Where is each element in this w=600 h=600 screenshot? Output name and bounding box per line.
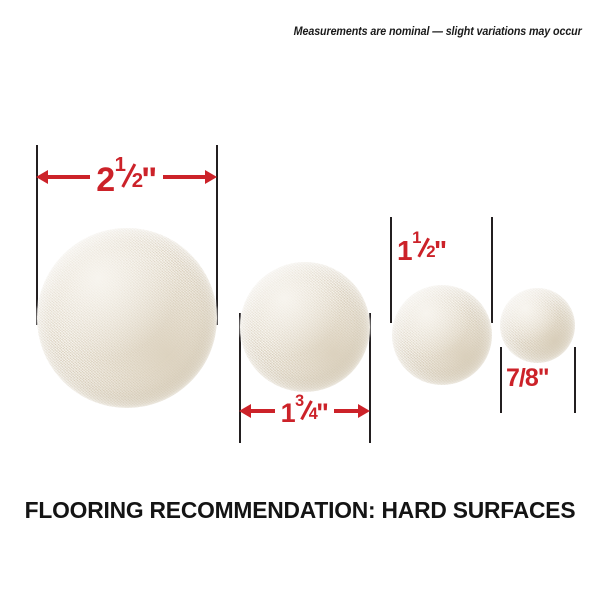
fraction-pad-1-3-4: 34 [295,395,316,422]
measurement-disclaimer: Measurements are nominal — slight variat… [294,26,582,38]
arrow-right-pad-1-3-4 [334,404,370,418]
arrow-left-pad-2-1-2 [36,170,90,184]
felt-pad-1-3-4-inch [240,262,370,392]
tick-line-pad-2-1-2-right [216,145,218,325]
fraction-numerator-pad-1-3-4: 3 [295,393,304,409]
fraction-denominator-pad-1-1-2: 2 [426,244,435,261]
fraction-bar-pad-1-3-4 [301,400,313,419]
fraction-denominator-pad-1-3-4: 4 [309,406,318,422]
dimension-label-pad-7-8: 7/8" [506,366,549,391]
flooring-recommendation-caption: FLOORING RECOMMENDATION: HARD SURFACES [9,497,591,524]
dim-numerator-pad-7-8: 7 [506,364,519,392]
dimension-label-pad-2-1-2: 212" [90,157,163,197]
arrow-left-pad-1-3-4 [239,404,275,418]
fraction-pad-1-1-2: 12 [412,232,434,260]
felt-pad-7-8-inch [500,288,575,363]
dim-whole-pad-2-1-2: 2 [96,161,114,199]
dim-whole-pad-1-1-2: 1 [397,235,412,266]
fraction-bar-pad-2-1-2 [122,163,137,187]
infographic-canvas: Measurements are nominal — slight variat… [0,0,600,600]
dimension-row-pad-1-3-4: 134" [239,396,370,426]
dim-denominator-pad-7-8: 8 [525,364,538,392]
dim-unit-pad-7-8: " [538,364,549,392]
dim-unit-pad-1-3-4: " [316,398,328,428]
dimension-label-pad-1-3-4: 134" [275,395,335,427]
tick-line-pad-7-8-right [574,347,576,413]
fraction-denominator-pad-2-1-2: 2 [132,171,143,191]
felt-pad-2-1-2-inch [37,228,217,408]
arrow-right-pad-2-1-2 [163,170,217,184]
felt-pad-1-1-2-inch [392,285,492,385]
fraction-pad-2-1-2: 12 [115,157,142,191]
tick-line-pad-1-1-2-left [390,217,392,323]
dimension-label-pad-1-1-2: 112" [397,232,447,265]
dim-unit-pad-1-1-2: " [434,235,447,266]
tick-line-pad-7-8-left [500,347,502,413]
fraction-numerator-pad-1-1-2: 1 [412,230,421,247]
dimension-row-pad-2-1-2: 212" [36,160,217,194]
dim-whole-pad-1-3-4: 1 [281,398,296,428]
dim-unit-pad-2-1-2: " [141,161,157,199]
tick-line-pad-1-1-2-right [491,217,493,323]
tick-line-pad-2-1-2-left [36,145,38,325]
fraction-numerator-pad-2-1-2: 1 [115,155,126,175]
